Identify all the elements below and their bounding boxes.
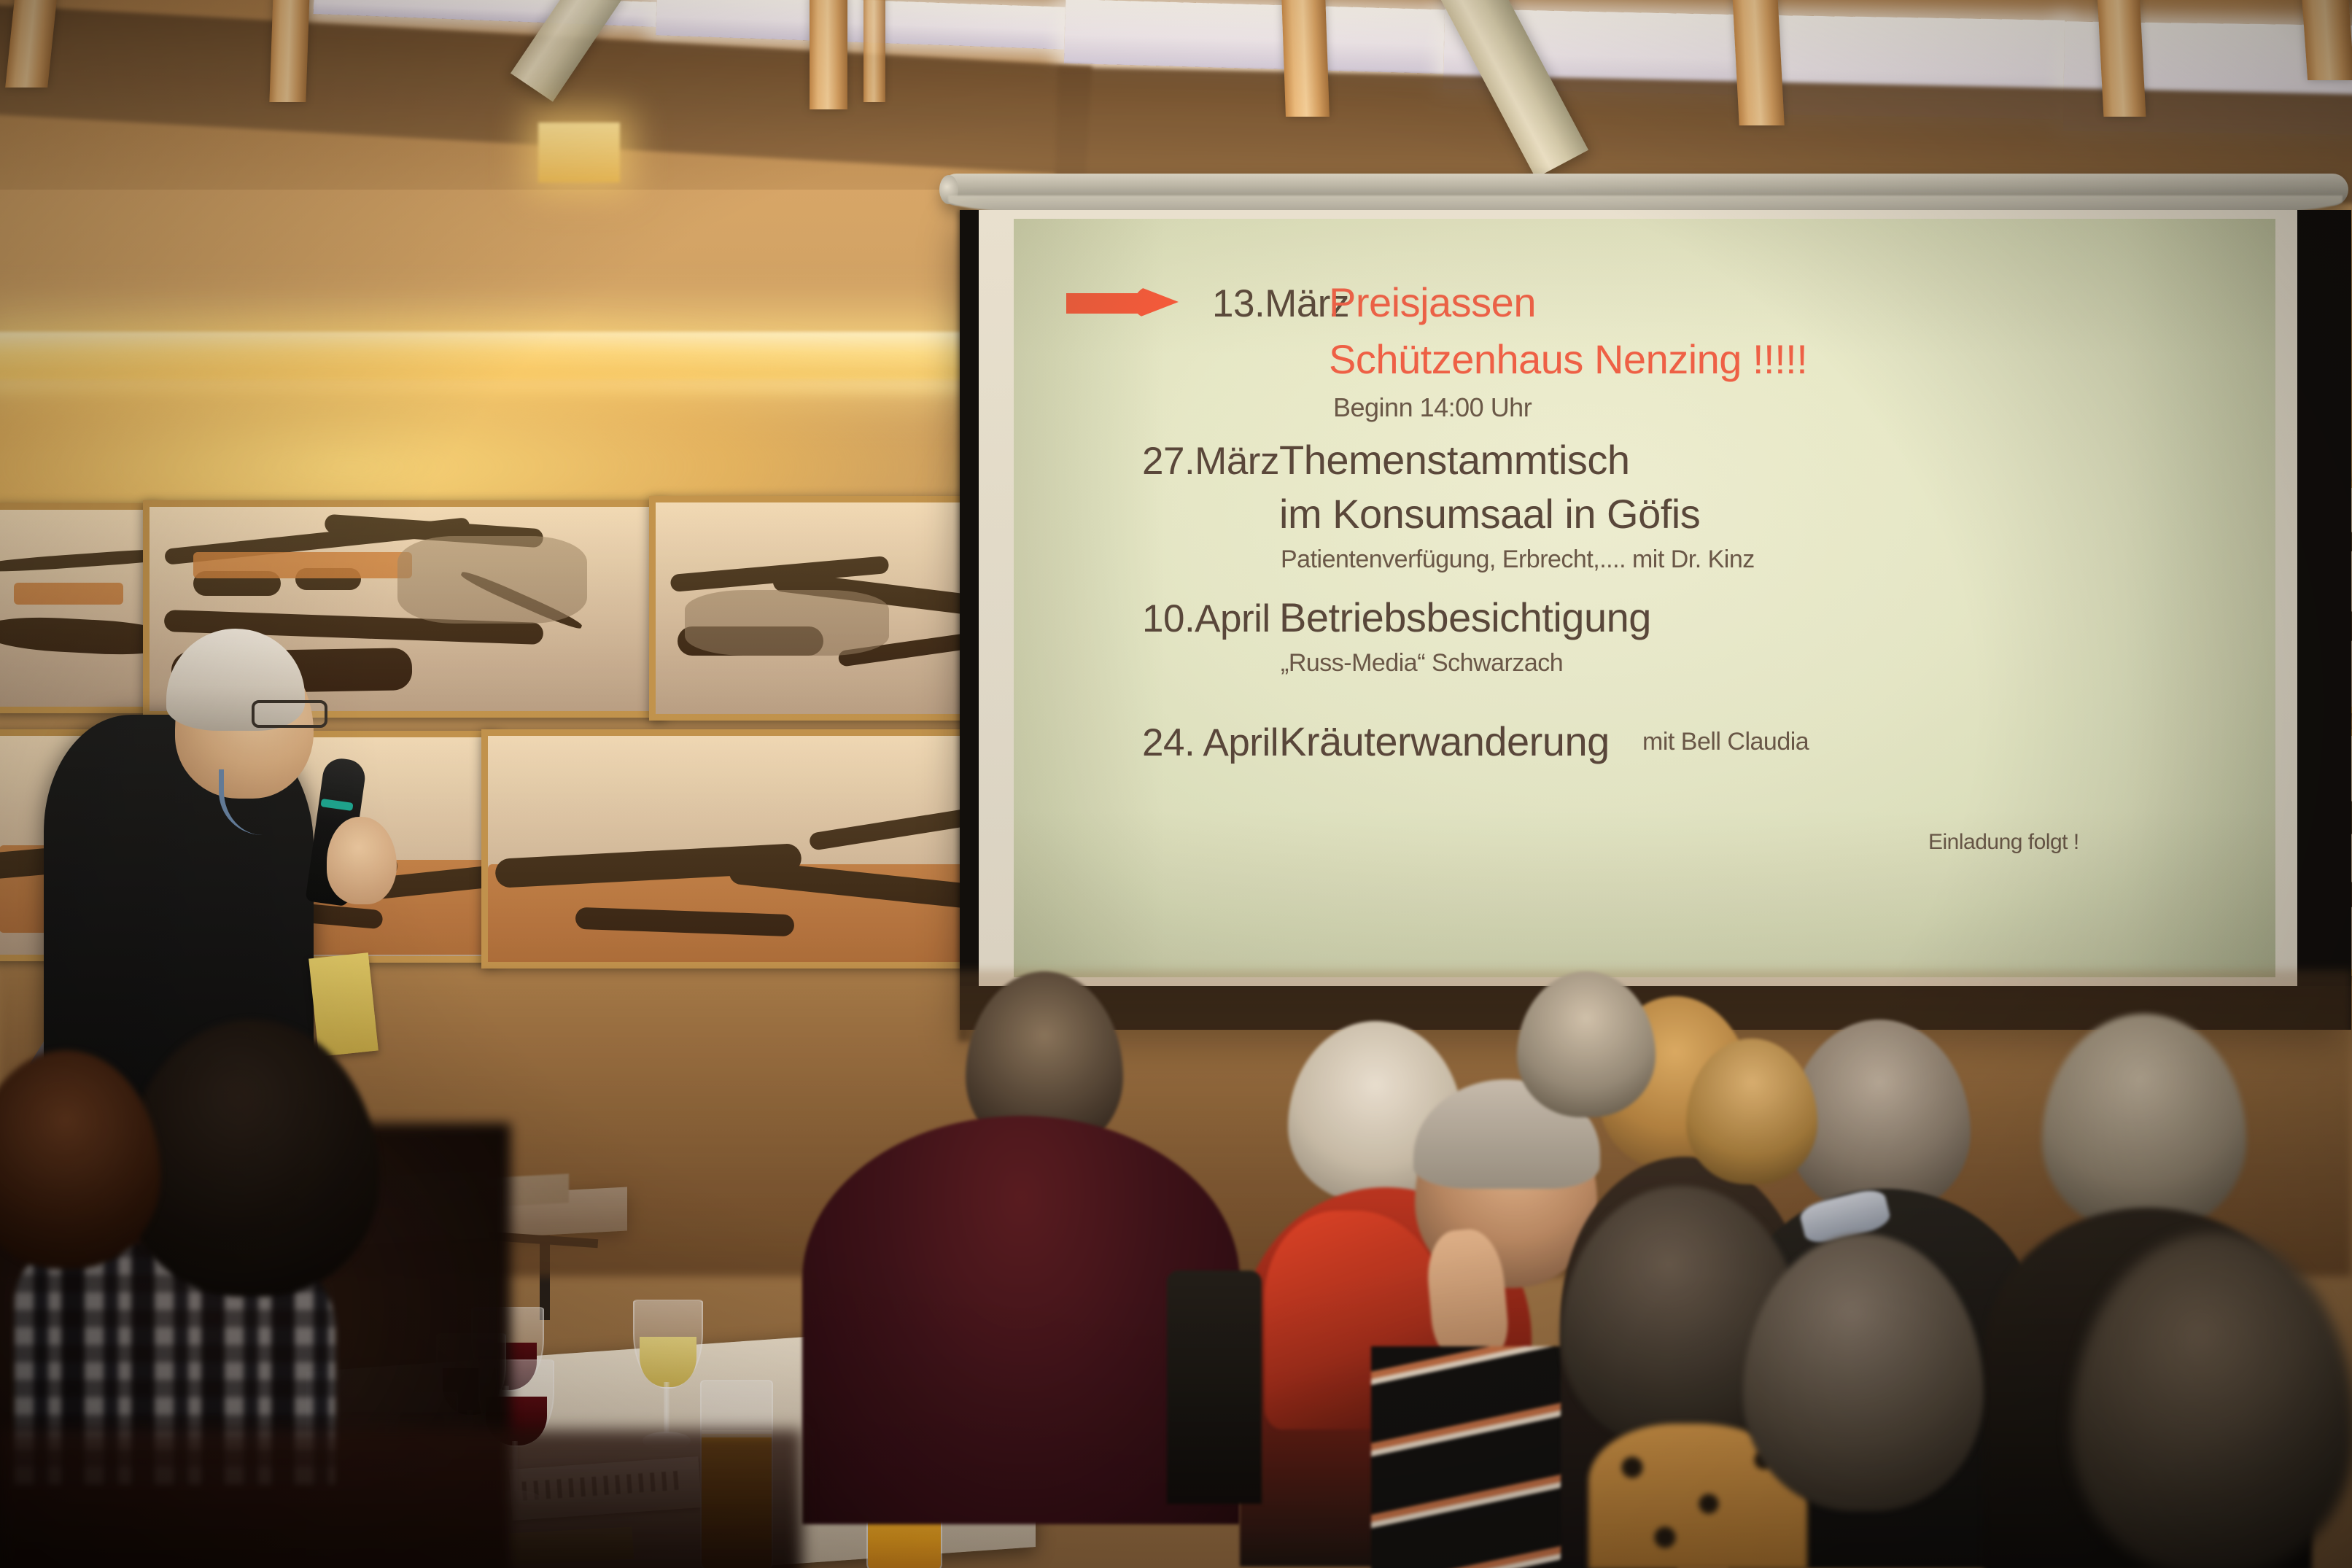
right-arrow-icon [1066,284,1177,319]
speaker-notes [308,952,379,1057]
slide-footer: Einladung folgt ! [1928,830,2079,855]
ceiling-beam-post [1732,0,1785,125]
projection-screen-border-right [2297,210,2351,1030]
slide-entry-note: Beginn 14:00 Uhr [1333,392,1532,423]
ceiling-beam-post [1281,0,1330,117]
slide-entry-note: „Russ-Media“ Schwarzach [1281,649,1563,678]
foreground-shadow [0,1429,802,1568]
ceiling-beam-post [863,0,885,102]
ceiling-beam-post [269,0,309,102]
slide-entry-line2: im Konsumsaal in Göfis [1279,490,1700,537]
glasses-icon [252,700,327,728]
ceiling-beam-post [810,0,847,109]
artwork-frame [481,729,976,969]
ceiling-beam-post [2097,0,2146,117]
projection-screen-border-left [960,210,979,1030]
slide-content: 13.März Preisjassen Schützenhaus Nenzing… [1014,219,2275,977]
slide-entry-date: 27.März [1142,439,1279,484]
slide-entry-date: 24. April [1142,721,1278,765]
slide-entry-title: Preisjassen [1329,279,1536,326]
slide-entry-title: Kräuterwanderung [1279,718,1610,765]
slide-entry-date: 10.April [1142,597,1270,641]
slide-entry-title: Betriebsbesichtigung [1279,594,1651,641]
slide-entry-title: Themenstammtisch [1279,436,1630,484]
artwork-frame [0,503,159,713]
skylight-strip [1064,0,1445,74]
artwork-frame [649,496,976,721]
ceiling-beam-post [2302,0,2352,80]
slide-entry-line2: Schützenhaus Nenzing !!!!! [1329,335,1807,383]
slide-entry-suffix: mit Bell Claudia [1642,728,1809,756]
slide-entry-note: Patientenverfügung, Erbrecht,.... mit Dr… [1281,546,1755,574]
ceiling-lamp [538,123,620,182]
chair-back [1167,1270,1262,1504]
scene-photo: 13.März Preisjassen Schützenhaus Nenzing… [0,0,2352,1568]
